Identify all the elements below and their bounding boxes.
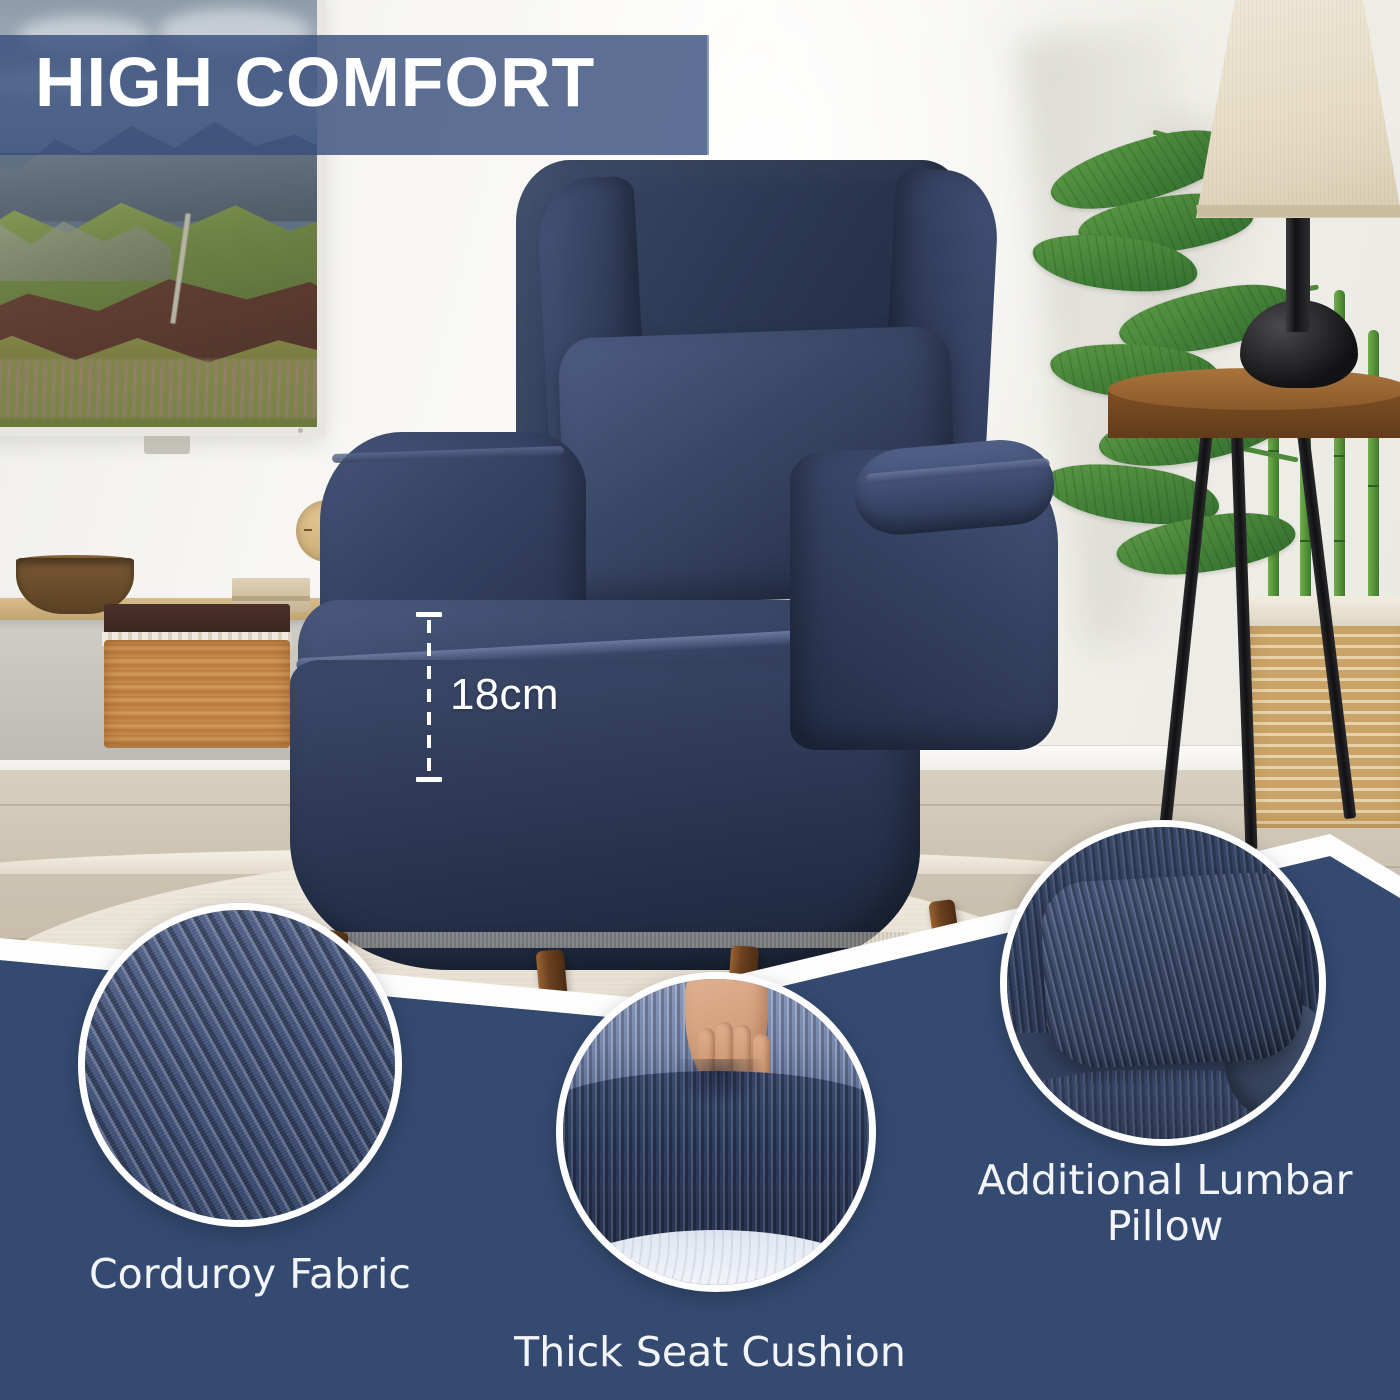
- headline-text: HIGH COMFORT: [35, 47, 595, 117]
- callout-circle-corduroy-fabric: [78, 903, 402, 1227]
- lamp-neck: [1286, 214, 1310, 332]
- callout-circle-lumbar-pillow: [1000, 820, 1326, 1146]
- lumbar-pillow-rib-texture: [1040, 870, 1305, 1070]
- dimension-label: 18cm: [450, 670, 559, 720]
- product-feature-graphic: 18cm HIGH COMFORT Corduroy Fabric: [0, 0, 1400, 1400]
- caption-additional-lumbar-pillow: Additional Lumbar Pillow: [930, 1158, 1400, 1250]
- wicker-storage-basket: [104, 640, 290, 748]
- dimension-cap-top: [416, 612, 442, 617]
- caption-thick-seat-cushion: Thick Seat Cushion: [460, 1330, 960, 1376]
- navy-corduroy-accent-chair: [270, 160, 1060, 990]
- lamp-shade-lower-lip: [1196, 205, 1400, 217]
- callout-circle-thick-seat-cushion: [556, 972, 876, 1292]
- fabric-noise-texture: [85, 910, 395, 1220]
- chair-base-trim: [308, 932, 908, 948]
- dimension-dashed-line: [427, 620, 431, 774]
- caption-corduroy-fabric: Corduroy Fabric: [0, 1252, 500, 1298]
- dimension-line-seat-height: [416, 612, 442, 782]
- bamboo-stalk: [1368, 330, 1379, 620]
- cushion-compression-shadow: [673, 1059, 765, 1108]
- dimension-cap-bottom: [416, 777, 442, 782]
